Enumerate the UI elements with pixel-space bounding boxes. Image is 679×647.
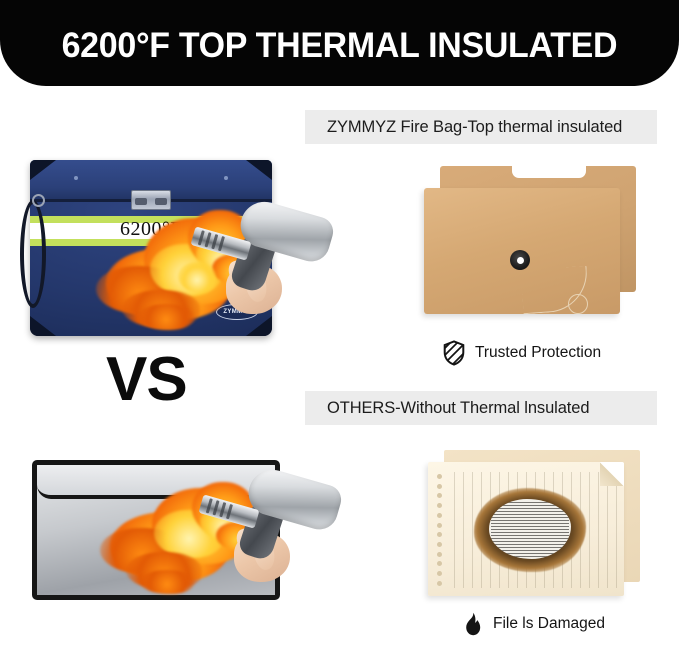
- bad-product-label-text: OTHERS-Without Thermal lnsulated: [327, 399, 589, 418]
- strap-ring: [32, 194, 45, 207]
- lid-rivet-left: [74, 176, 78, 180]
- bad-product-scene: [22, 452, 312, 612]
- lid-rivet-right: [224, 176, 228, 180]
- trusted-protection-caption: Trusted Protection: [443, 340, 601, 366]
- binder-holes: [437, 474, 444, 586]
- damaged-document-scene: [418, 448, 658, 608]
- wrist-strap: [20, 200, 46, 308]
- paper-folded-corner: [600, 462, 624, 486]
- flame-icon: [463, 612, 483, 636]
- envelope-string-loop: [568, 294, 588, 314]
- shield-icon: [443, 340, 465, 366]
- good-product-label: ZYMMYZ Fire Bag-Top thermal insulated: [305, 110, 657, 144]
- burn-hole: [474, 488, 586, 572]
- product-comparison-infographic: 6200°F TOP THERMAL INSULATED 6200°F ZYMM…: [0, 0, 679, 647]
- good-product-scene: 6200°F ZYMMYZ: [14, 152, 304, 352]
- burned-through-area: [489, 499, 571, 559]
- file-damaged-text: File ls Damaged: [493, 615, 605, 633]
- trusted-protection-text: Trusted Protection: [475, 344, 601, 362]
- envelope-notch: [512, 166, 586, 178]
- good-product-label-text: ZYMMYZ Fire Bag-Top thermal insulated: [327, 118, 622, 137]
- page-title: 6200°F TOP THERMAL INSULATED: [62, 20, 618, 66]
- bag-corner-bottom-left: [30, 316, 56, 336]
- metal-clasp: [131, 190, 171, 210]
- butane-torch: [208, 468, 328, 588]
- bad-product-label: OTHERS-Without Thermal lnsulated: [305, 391, 657, 425]
- file-damaged-caption: File ls Damaged: [463, 612, 605, 636]
- envelope-front: [424, 188, 620, 314]
- vs-label: VS: [106, 349, 187, 411]
- header-banner: 6200°F TOP THERMAL INSULATED: [0, 0, 679, 86]
- intact-document-scene: [418, 160, 653, 325]
- envelope-button-closure: [510, 250, 530, 270]
- paper-sheet-front: [428, 462, 624, 596]
- butane-torch: [200, 200, 320, 320]
